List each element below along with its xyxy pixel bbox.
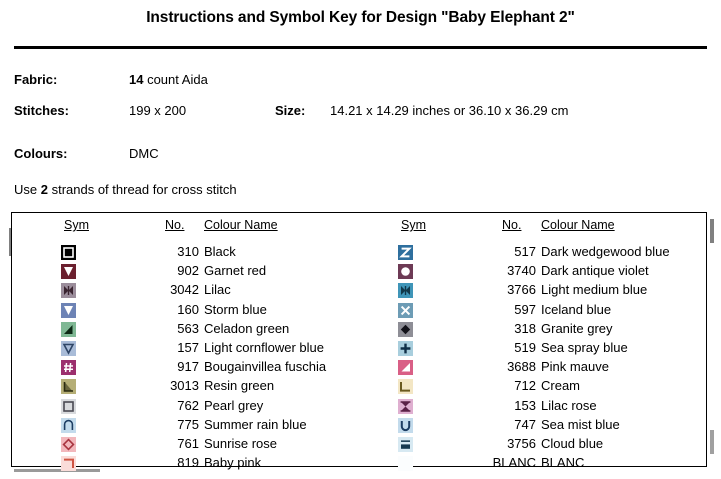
filled-corner-triangle-icon <box>61 322 76 337</box>
thread-number: 917 <box>122 359 199 374</box>
thread-number: 3013 <box>122 378 199 393</box>
colour-name: Celadon green <box>204 321 289 336</box>
thread-number: 153 <box>459 398 536 413</box>
square-outline-icon <box>61 245 76 260</box>
thread-number: BLANC <box>459 455 536 470</box>
colours-value: DMC <box>129 146 159 161</box>
arch-icon <box>61 418 76 433</box>
colour-name: Summer rain blue <box>204 417 307 432</box>
corner-bracket-icon <box>61 456 76 471</box>
corner-arrow-icon <box>61 379 76 394</box>
thread-number: 3688 <box>459 359 536 374</box>
header-name: Colour Name <box>541 218 615 232</box>
inverted-triangle-icon <box>61 264 76 279</box>
colour-name: Storm blue <box>204 302 267 317</box>
size-value: 14.21 x 14.29 inches or 36.10 x 36.29 cm <box>330 103 569 118</box>
bowtie-icon <box>61 283 76 298</box>
colour-name: Baby pink <box>204 455 261 470</box>
header-sym: Sym <box>401 218 426 232</box>
thread-number: 157 <box>122 340 199 355</box>
blank-icon <box>398 456 413 471</box>
fabric-label: Fabric: <box>14 72 129 87</box>
strands-prefix: Use <box>14 182 41 197</box>
stitches-label: Stitches: <box>14 103 129 118</box>
strands-suffix: strands of thread for cross stitch <box>48 182 237 197</box>
colour-name: Cloud blue <box>541 436 603 451</box>
square-outline-icon <box>61 399 76 414</box>
colour-name: Black <box>204 244 236 259</box>
thread-number: 597 <box>459 302 536 317</box>
strands-count: 2 <box>41 182 48 197</box>
colour-name: Dark antique violet <box>541 263 649 278</box>
thread-number: 819 <box>122 455 199 470</box>
thread-number: 902 <box>122 263 199 278</box>
corner-bracket-bl-icon <box>398 379 413 394</box>
filled-corner-triangle-tr-icon <box>398 360 413 375</box>
letter-z-icon <box>398 245 413 260</box>
colour-name: Bougainvillea fuschia <box>204 359 326 374</box>
colour-name: Light cornflower blue <box>204 340 324 355</box>
scrollbar-handle-bottom[interactable] <box>14 469 100 472</box>
thread-number: 775 <box>122 417 199 432</box>
thread-number: 3740 <box>459 263 536 278</box>
colour-name: Lilac rose <box>541 398 597 413</box>
stitches-row: Stitches:199 x 200 <box>14 103 186 118</box>
thread-number: 761 <box>122 436 199 451</box>
letter-x-icon <box>398 303 413 318</box>
colour-name: Resin green <box>204 378 274 393</box>
colour-name: Dark wedgewood blue <box>541 244 670 259</box>
thread-number: 310 <box>122 244 199 259</box>
scrollbar-handle-right-top[interactable] <box>710 219 714 243</box>
diamond-filled-icon <box>398 322 413 337</box>
header-no: No. <box>502 218 521 232</box>
hourglass-icon <box>398 399 413 414</box>
colours-label: Colours: <box>14 146 129 161</box>
colour-name: Sunrise rose <box>204 436 277 451</box>
colour-name: Granite grey <box>541 321 613 336</box>
plus-icon <box>398 341 413 356</box>
thread-number: 3756 <box>459 436 536 451</box>
colour-name: Cream <box>541 378 580 393</box>
fabric-value: 14 count Aida <box>129 72 208 87</box>
size-label: Size: <box>275 103 305 118</box>
title-divider <box>14 46 707 49</box>
thread-number: 517 <box>459 244 536 259</box>
sharp-icon <box>61 360 76 375</box>
colour-name: Iceland blue <box>541 302 611 317</box>
colour-name: Light medium blue <box>541 282 647 297</box>
colour-name: BLANC <box>541 455 584 470</box>
bowtie-icon <box>398 283 413 298</box>
colours-row: Colours:DMC <box>14 146 159 161</box>
circle-icon <box>398 264 413 279</box>
thread-number: 318 <box>459 321 536 336</box>
bar-block-icon <box>398 437 413 452</box>
colour-name: Sea spray blue <box>541 340 628 355</box>
header-name: Colour Name <box>204 218 278 232</box>
thread-number: 519 <box>459 340 536 355</box>
inverted-triangle-outline-icon <box>61 341 76 356</box>
thread-number: 160 <box>122 302 199 317</box>
thread-number: 3766 <box>459 282 536 297</box>
colour-name: Lilac <box>204 282 231 297</box>
symbol-key-table: Sym No. Colour Name 310Black902Garnet re… <box>11 212 707 467</box>
fabric-unit: count Aida <box>143 72 207 87</box>
colour-name: Pearl grey <box>204 398 263 413</box>
thread-number: 747 <box>459 417 536 432</box>
diamond-outline-icon <box>61 437 76 452</box>
header-no: No. <box>165 218 184 232</box>
colour-name: Pink mauve <box>541 359 609 374</box>
strands-instruction: Use 2 strands of thread for cross stitch <box>14 182 237 197</box>
fabric-count: 14 <box>129 72 143 87</box>
thread-number: 3042 <box>122 282 199 297</box>
thread-number: 712 <box>459 378 536 393</box>
colour-name: Garnet red <box>204 263 266 278</box>
scrollbar-handle-right-bottom[interactable] <box>710 430 714 454</box>
header-sym: Sym <box>64 218 89 232</box>
thread-number: 762 <box>122 398 199 413</box>
page-title: Instructions and Symbol Key for Design "… <box>0 9 721 27</box>
letter-u-icon <box>398 418 413 433</box>
inverted-triangle-icon <box>61 303 76 318</box>
thread-number: 563 <box>122 321 199 336</box>
fabric-row: Fabric:14 count Aida <box>14 72 208 87</box>
stitches-value: 199 x 200 <box>129 103 186 118</box>
colour-name: Sea mist blue <box>541 417 620 432</box>
